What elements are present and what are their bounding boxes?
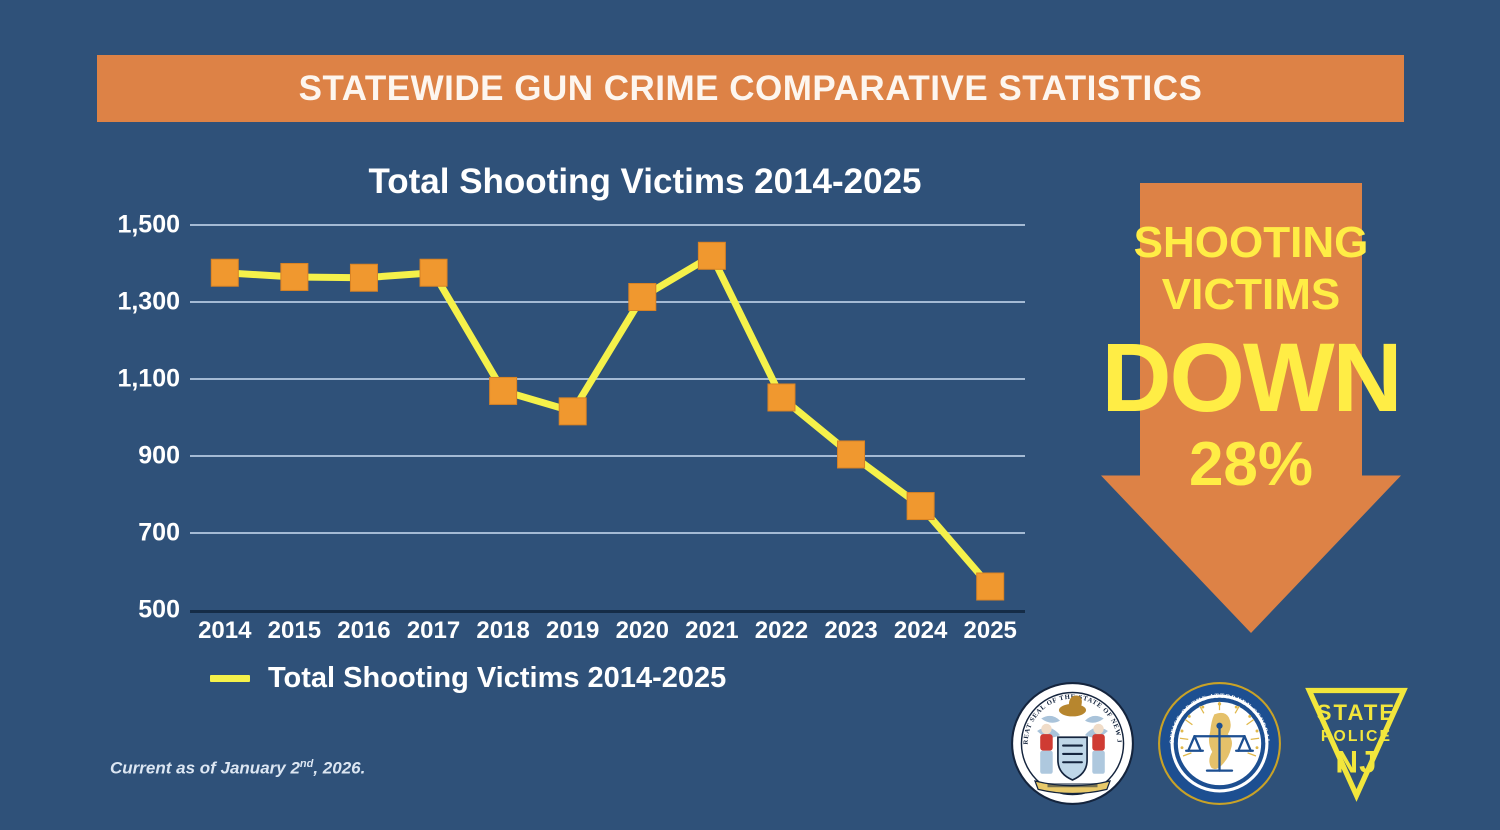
data-point-marker[interactable] (768, 384, 795, 411)
line-series (190, 225, 1025, 610)
y-axis-tick-label: 900 (138, 442, 180, 471)
legend-label: Total Shooting Victims 2014-2025 (268, 662, 726, 695)
callout-line-1: SHOOTING (1101, 221, 1401, 265)
x-axis-tick-label: 2021 (685, 617, 738, 645)
x-axis-tick-label: 2017 (407, 617, 460, 645)
chart-plot-area: 1,5001,3001,100900700500 201420152016201… (60, 225, 1025, 610)
new-jersey-state-police-logo-icon: STATE POLICE NJ (1304, 683, 1409, 803)
data-point-marker[interactable] (838, 441, 865, 468)
data-point-marker[interactable] (907, 493, 934, 520)
y-axis-tick-label: 1,100 (117, 365, 180, 394)
footnote-suffix: , 2026. (313, 759, 365, 778)
x-axis-tick-label: 2015 (268, 617, 321, 645)
data-point-marker[interactable] (350, 264, 377, 291)
chart-gridlines (190, 225, 1025, 610)
footnote-ordinal: nd (300, 758, 313, 770)
x-axis-tick-label: 2016 (337, 617, 390, 645)
callout-line-2: VICTIMS (1101, 273, 1401, 317)
down-arrow-callout: SHOOTING VICTIMS DOWN 28% (1101, 183, 1401, 633)
data-point-marker[interactable] (698, 242, 725, 269)
data-point-marker[interactable] (629, 283, 656, 310)
agency-seals: THE GREAT SEAL OF THE STATE OF NEW JERSE… (1010, 668, 1410, 818)
callout-text-block: SHOOTING VICTIMS DOWN 28% (1101, 183, 1401, 496)
chart-panel: Total Shooting Victims 2014-2025 1,5001,… (60, 150, 1060, 730)
data-point-marker[interactable] (977, 573, 1004, 600)
chart-title: Total Shooting Victims 2014-2025 (250, 162, 1040, 202)
page-title: STATEWIDE GUN CRIME COMPARATIVE STATISTI… (299, 69, 1203, 109)
x-axis-tick-label: 2014 (198, 617, 251, 645)
data-point-marker[interactable] (211, 259, 238, 286)
data-point-marker[interactable] (420, 259, 447, 286)
x-axis-tick-label: 2023 (824, 617, 877, 645)
great-seal-of-new-jersey-icon: THE GREAT SEAL OF THE STATE OF NEW JERSE… (1010, 681, 1135, 806)
attorney-general-seal-icon: OFFICE OF THE ATTORNEY GENERAL STATE OF … (1157, 681, 1282, 806)
x-axis: 2014201520162017201820192020202120222023… (190, 617, 1025, 649)
x-axis-tick-label: 2018 (476, 617, 529, 645)
x-axis-tick-label: 2024 (894, 617, 947, 645)
chart-legend: Total Shooting Victims 2014-2025 (210, 662, 726, 695)
x-axis-baseline (190, 610, 1025, 613)
y-axis-tick-label: 700 (138, 519, 180, 548)
y-axis-tick-label: 500 (138, 596, 180, 625)
data-point-marker[interactable] (559, 398, 586, 425)
state-police-line3: NJ (1335, 743, 1377, 779)
header-banner: STATEWIDE GUN CRIME COMPARATIVE STATISTI… (97, 55, 1404, 122)
footnote: Current as of January 2nd, 2026. (110, 758, 365, 779)
x-axis-tick-label: 2022 (755, 617, 808, 645)
data-point-marker[interactable] (490, 377, 517, 404)
y-axis-tick-label: 1,500 (117, 211, 180, 240)
state-police-line2: POLICE (1321, 728, 1392, 745)
data-point-marker[interactable] (281, 263, 308, 290)
state-police-line1: STATE (1317, 700, 1397, 725)
y-axis-tick-label: 1,300 (117, 288, 180, 317)
x-axis-tick-label: 2025 (964, 617, 1017, 645)
callout-headline: DOWN (1101, 329, 1401, 426)
series-line (225, 256, 990, 587)
x-axis-tick-label: 2019 (546, 617, 599, 645)
legend-swatch-icon (210, 675, 250, 682)
footnote-prefix: Current as of January 2 (110, 759, 300, 778)
y-axis: 1,5001,3001,100900700500 (60, 225, 180, 610)
callout-percent: 28% (1101, 434, 1401, 496)
x-axis-tick-label: 2020 (616, 617, 669, 645)
